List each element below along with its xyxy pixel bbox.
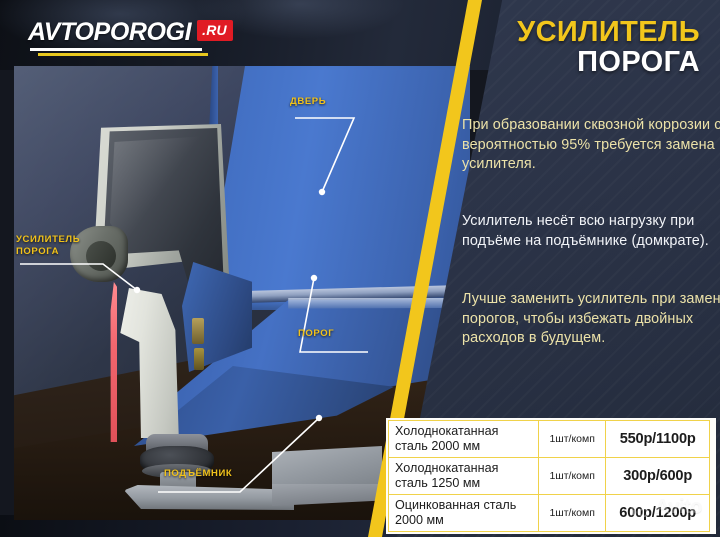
callout-door: ДВЕРЬ <box>290 96 326 108</box>
price-table-container: Холоднокатанная сталь 2000 мм 1шт/комп 5… <box>386 418 716 534</box>
row-material: Холоднокатанная сталь 2000 мм <box>389 421 539 458</box>
title-line-2: ПОРОГА <box>517 48 700 78</box>
row-price: 550р/1100р <box>606 421 710 458</box>
row-quantity: 1шт/комп <box>539 421 606 458</box>
callout-sill: ПОРОГ <box>298 328 334 340</box>
table-row: Холоднокатанная сталь 1250 мм 1шт/комп 3… <box>389 458 710 495</box>
table-row: Оцинкованная сталь 2000 мм 1шт/комп 600р… <box>389 495 710 532</box>
logo-wordmark: AVTOPOROGI <box>28 18 191 46</box>
paragraph-load: Усилитель несёт всю нагрузку при подъёме… <box>462 212 720 251</box>
callout-door-label: ДВЕРЬ <box>290 96 326 108</box>
row-price: 300р/600р <box>606 458 710 495</box>
row-quantity: 1шт/комп <box>539 458 606 495</box>
sill-clip-lower <box>194 348 204 370</box>
table-row: Холоднокатанная сталь 2000 мм 1шт/комп 5… <box>389 421 710 458</box>
callout-reinforcer-label: УСИЛИТЕЛЬ ПОРОГА <box>16 234 80 258</box>
callout-reinforcer: УСИЛИТЕЛЬ ПОРОГА <box>16 234 80 258</box>
callout-lift: ПОДЪЁМНИК <box>164 468 232 480</box>
callout-sill-label: ПОРОГ <box>298 328 334 340</box>
title-line-1: УСИЛИТЕЛЬ <box>517 18 700 48</box>
row-price: 600р/1200р <box>606 495 710 532</box>
callout-lift-label: ПОДЪЁМНИК <box>164 468 232 480</box>
logo-underline-yellow <box>38 53 208 56</box>
price-table-body: Холоднокатанная сталь 2000 мм 1шт/комп 5… <box>389 421 710 532</box>
price-table: Холоднокатанная сталь 2000 мм 1шт/комп 5… <box>388 420 710 532</box>
sill-clip-upper <box>192 318 204 344</box>
page-title: УСИЛИТЕЛЬ ПОРОГА <box>517 18 700 77</box>
row-material: Холоднокатанная сталь 1250 мм <box>389 458 539 495</box>
site-logo[interactable]: AVTOPOROGI .RU <box>28 20 233 45</box>
paragraph-corrosion: При образовании сквозной коррозии с веро… <box>462 116 720 175</box>
logo-tld-badge: .RU <box>197 20 233 41</box>
row-material: Оцинкованная сталь 2000 мм <box>389 495 539 532</box>
logo-underline-white <box>30 48 202 51</box>
row-quantity: 1шт/комп <box>539 495 606 532</box>
paragraph-advice: Лучше заменить усилитель при замене поро… <box>462 290 720 349</box>
infographic-canvas: AVTOPOROGI .RU <box>0 0 720 537</box>
hinge-pin <box>86 241 116 271</box>
